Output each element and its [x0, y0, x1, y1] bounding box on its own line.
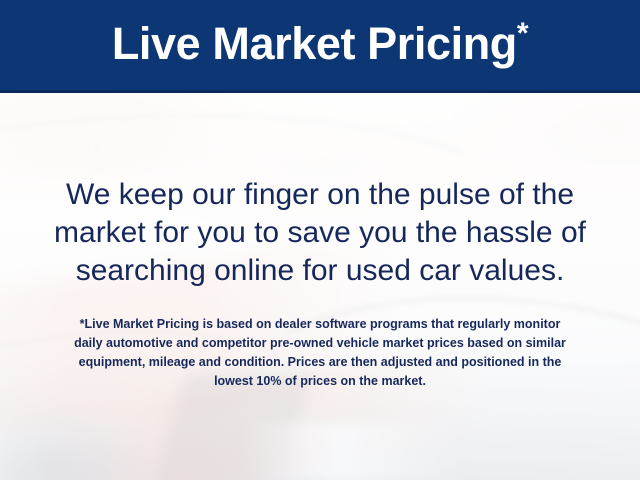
disclaimer-line-2: daily automotive and competitor pre-owne… [22, 334, 618, 353]
disclaimer-text: *Live Market Pricing is based on dealer … [0, 315, 640, 391]
title-asterisk: * [517, 17, 528, 50]
headline-line-3: searching online for used car values. [26, 252, 614, 290]
live-market-pricing-card: Live Market Pricing* We keep our finger … [0, 0, 640, 480]
content-area: We keep our finger on the pulse of the m… [0, 93, 640, 480]
headline: We keep our finger on the pulse of the m… [0, 176, 640, 290]
page-title-text: Live Market Pricing [112, 18, 517, 69]
disclaimer-line-3: equipment, mileage and condition. Prices… [22, 353, 618, 372]
page-title: Live Market Pricing* [112, 21, 528, 69]
headline-line-2: market for you to save you the hassle of [26, 214, 614, 252]
disclaimer-line-4: lowest 10% of prices on the market. [22, 372, 618, 391]
headline-line-1: We keep our finger on the pulse of the [26, 176, 614, 214]
title-banner: Live Market Pricing* [0, 0, 640, 93]
disclaimer-line-1: *Live Market Pricing is based on dealer … [22, 315, 618, 334]
